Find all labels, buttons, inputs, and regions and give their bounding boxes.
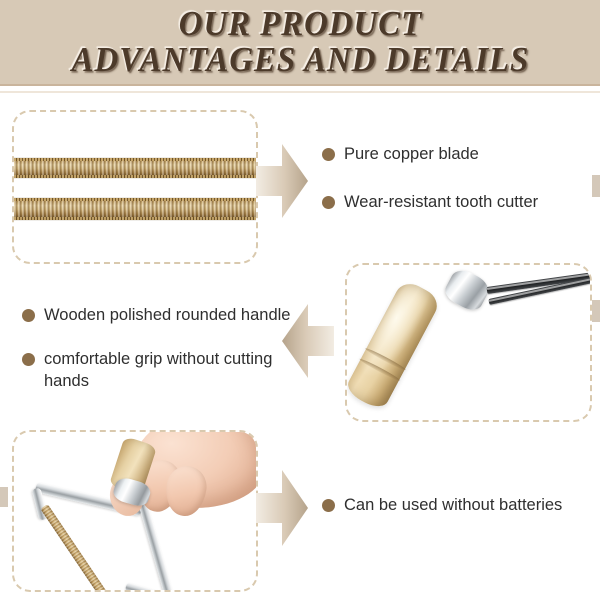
metal-ferrule <box>441 266 492 315</box>
wooden-handle-photo-panel <box>345 263 592 422</box>
list-item: Wooden polished rounded handle <box>22 305 292 327</box>
copper-blade-strip-lower <box>12 198 258 220</box>
bullet-dot-icon <box>322 148 335 161</box>
copper-blade-strip-upper <box>12 158 258 178</box>
arrow-bottom-right-icon <box>256 468 308 548</box>
copper-blade-edge <box>40 504 119 592</box>
blade-teeth-lower-top <box>12 198 258 201</box>
feature-text: Wear-resistant tooth cutter <box>344 192 538 214</box>
handle-groove-upper <box>364 347 406 372</box>
bullet-dot-icon <box>22 353 35 366</box>
list-item: Pure copper blade <box>322 144 600 166</box>
wooden-handle-scene <box>347 265 590 420</box>
feature-text: comfortable grip without cutting hands <box>44 349 292 393</box>
feature-text: Pure copper blade <box>344 144 479 166</box>
list-item: Can be used without batteries <box>322 495 600 517</box>
feature-list-bottom-right: Can be used without batteries <box>322 495 600 535</box>
header-underline-tint <box>0 91 600 93</box>
steel-frame-right-bar <box>138 499 179 592</box>
title-line-2: ADVANTAGES AND DETAILS <box>71 43 529 77</box>
copper-blade-photo-panel <box>12 110 258 264</box>
edge-marker-right-upper <box>592 175 600 197</box>
feature-text: Can be used without batteries <box>344 495 562 517</box>
blade-teeth-upper-bottom <box>12 175 258 178</box>
feature-list-top-right: Pure copper blade Wear-resistant tooth c… <box>322 144 600 240</box>
header-banner: OUR PRODUCT ADVANTAGES AND DETAILS <box>0 0 600 86</box>
arrow-top-right-icon <box>256 142 308 220</box>
arrow-middle-left-icon <box>282 302 334 380</box>
blade-teeth-upper-top <box>12 158 258 161</box>
bullet-dot-icon <box>22 309 35 322</box>
handle-groove-lower <box>359 357 401 382</box>
wooden-handle <box>345 278 442 412</box>
lint-remover-scene <box>14 432 256 590</box>
feature-text: Wooden polished rounded handle <box>44 305 290 327</box>
blade-teeth-lower-bottom <box>12 217 258 220</box>
edge-marker-left <box>0 487 8 507</box>
hand-holding-tool-photo-panel <box>12 430 258 592</box>
product-advantages-infographic: OUR PRODUCT ADVANTAGES AND DETAILS <box>0 0 600 600</box>
list-item: comfortable grip without cutting hands <box>22 349 292 393</box>
bullet-dot-icon <box>322 196 335 209</box>
edge-marker-right-lower <box>592 300 600 322</box>
page-title: OUR PRODUCT ADVANTAGES AND DETAILS <box>0 0 600 84</box>
bullet-dot-icon <box>322 499 335 512</box>
title-line-1: OUR PRODUCT <box>178 7 421 41</box>
feature-list-middle-left: Wooden polished rounded handle comfortab… <box>22 305 292 414</box>
list-item: Wear-resistant tooth cutter <box>322 192 600 214</box>
